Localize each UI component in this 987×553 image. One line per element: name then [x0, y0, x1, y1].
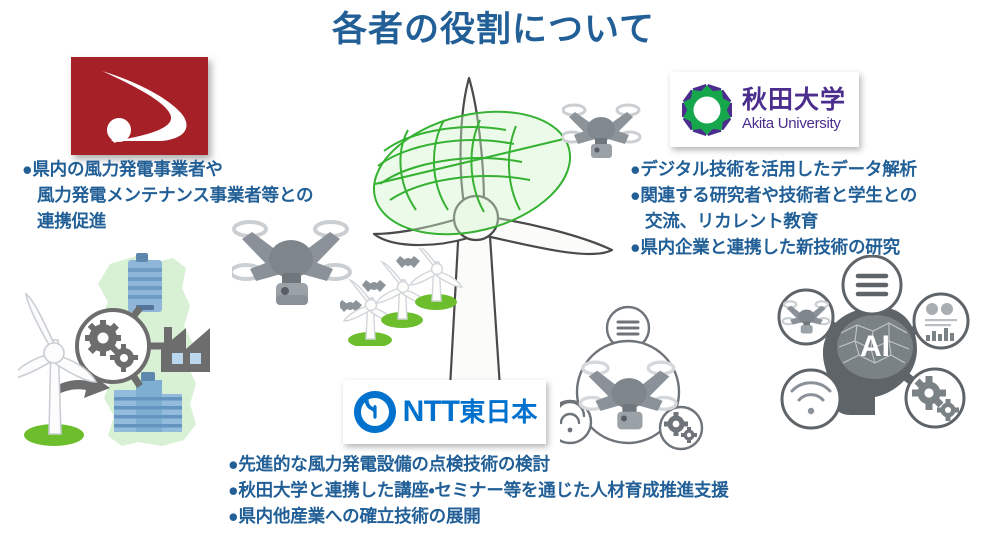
- mini-wind-farm-illustration: [340, 248, 475, 346]
- bullet-line: ●デジタル技術を活用したデータ解析: [630, 157, 917, 183]
- small-wind-turbine-icon: [376, 262, 428, 328]
- ntt-east-wordmark: NTT東日本: [403, 397, 538, 427]
- page-title: 各者の役割について: [0, 8, 987, 52]
- akita-prefecture-role-text: ●県内の風力発電事業者や 風力発電メンテナンス事業者等との 連携促進: [22, 157, 313, 235]
- ntt-name-en: NTT: [403, 395, 460, 428]
- bullet-line: ●先進的な風力発電設備の点検技術の検討: [228, 452, 729, 478]
- drone-iot-hub-diagram: [560, 300, 735, 460]
- ai-head-hub-diagram: AI: [775, 255, 975, 435]
- akita-university-role-text: ●デジタル技術を活用したデータ解析 ●関連する研究者や技術者と学生との 交流、リ…: [630, 157, 917, 261]
- akita-map-industry-illustration: [18, 248, 243, 453]
- hub-node-list: [843, 256, 901, 314]
- akita-university-logo[interactable]: 秋田大学 Akita University: [670, 72, 859, 147]
- office-building-icon: [128, 253, 162, 312]
- small-wind-turbine-icon: [410, 248, 462, 310]
- hub-node-drone: [779, 290, 833, 344]
- ntt-swirl-mark: [352, 389, 398, 435]
- bullet-line: 連携促進: [22, 209, 313, 235]
- akita-university-name-en: Akita University: [742, 116, 846, 131]
- bullet-line: 交流、リカレント教育: [630, 209, 917, 235]
- ntt-name-jp: 東日本: [459, 397, 537, 427]
- inspection-drone-small-illustration: [562, 100, 642, 162]
- slide-canvas: 各者の役割について: [0, 0, 987, 553]
- akita-university-name-jp: 秋田大学: [742, 88, 846, 113]
- ai-brain-icon: AI: [837, 315, 913, 379]
- hub-node-wifi: [782, 370, 840, 428]
- bullet-line: ●県内他産業への確立技術の展開: [228, 504, 729, 530]
- drone-icon: [562, 105, 640, 158]
- hub-node-gears: [906, 369, 964, 427]
- bullet-line: ●県内の風力発電事業者や: [22, 157, 313, 183]
- ntt-east-role-text: ●先進的な風力発電設備の点検技術の検討 ●秋田大学と連携した講座・セミナー等を通…: [228, 452, 729, 530]
- factory-icon: [161, 327, 210, 372]
- hub-node-chart: [914, 294, 968, 348]
- ai-label: AI: [860, 330, 890, 363]
- ntt-east-logo[interactable]: NTT東日本: [343, 380, 546, 444]
- bullet-line: ●秋田大学と連携した講座・セミナー等を通じた人材育成推進支援: [228, 478, 729, 504]
- wind-turbine-icon: [18, 294, 96, 446]
- bullet-line: 風力発電メンテナンス事業者等との: [22, 183, 313, 209]
- akita-university-mark: [679, 82, 735, 138]
- bullet-line: ●県内企業と連携した新技術の研究: [630, 235, 917, 261]
- akita-prefecture-logo[interactable]: [71, 57, 208, 155]
- bullet-line: ●関連する研究者や技術者と学生との: [630, 183, 917, 209]
